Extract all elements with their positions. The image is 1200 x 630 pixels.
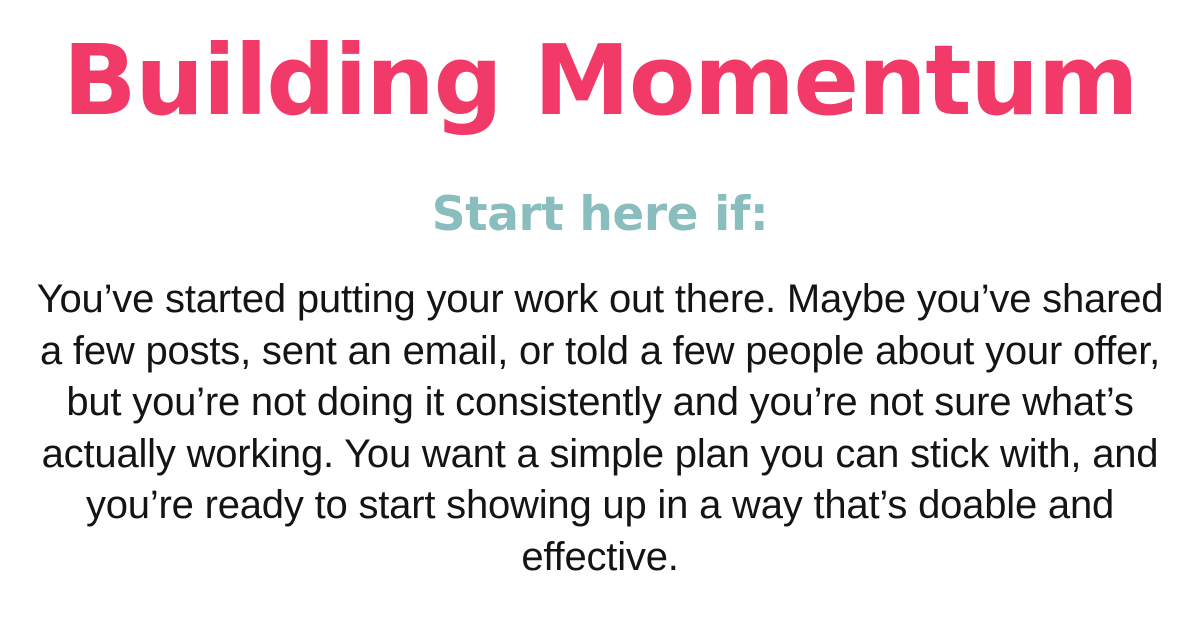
section-subtitle: Start here if: bbox=[28, 191, 1172, 238]
hero-card: Building Momentum Start here if: You’ve … bbox=[0, 0, 1200, 630]
page-title: Building Momentum bbox=[28, 32, 1172, 129]
body-paragraph: You’ve started putting your work out the… bbox=[27, 274, 1173, 583]
